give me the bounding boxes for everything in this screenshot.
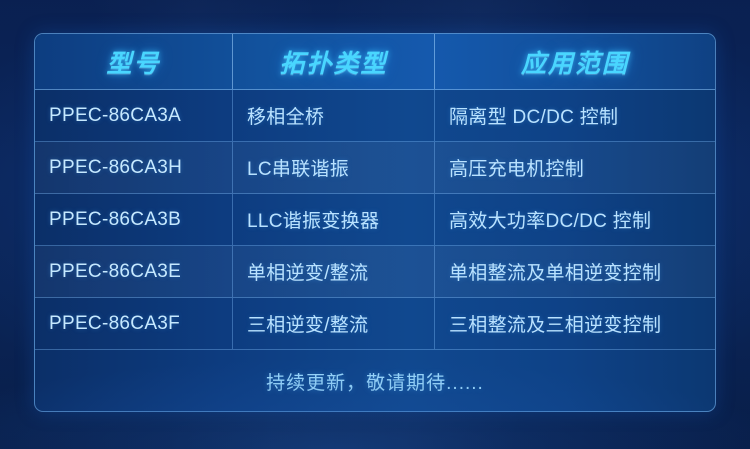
column-header-topology: 拓扑类型 <box>233 34 435 89</box>
cell-topology-value: LC串联谐振 <box>247 154 349 181</box>
cell-model: PPEC-86CA3B <box>35 194 233 245</box>
table-footer-row: 持续更新，敬请期待...... <box>35 350 715 412</box>
table-row: PPEC-86CA3B LLC谐振变换器 高效大功率DC/DC 控制 <box>35 194 715 246</box>
cell-scope: 三相整流及三相逆变控制 <box>435 298 715 349</box>
cell-scope: 隔离型 DC/DC 控制 <box>435 90 715 141</box>
cell-topology: 单相逆变/整流 <box>233 246 435 297</box>
cell-scope-value: 隔离型 DC/DC 控制 <box>449 102 618 129</box>
column-header-scope-label: 应用范围 <box>449 44 701 80</box>
cell-scope-value: 三相整流及三相逆变控制 <box>449 310 661 337</box>
cell-model: PPEC-86CA3H <box>35 142 233 193</box>
cell-topology: LLC谐振变换器 <box>233 194 435 245</box>
cell-model-value: PPEC-86CA3F <box>49 313 180 335</box>
slide-canvas: 型号 拓扑类型 应用范围 PPEC-86CA3A 移相全桥 隔离型 DC/DC … <box>0 0 750 449</box>
table-row: PPEC-86CA3F 三相逆变/整流 三相整流及三相逆变控制 <box>35 298 715 350</box>
cell-model-value: PPEC-86CA3E <box>49 261 181 283</box>
cell-scope-value: 高压充电机控制 <box>449 154 584 181</box>
cell-scope-value: 高效大功率DC/DC 控制 <box>449 206 651 233</box>
column-header-model: 型号 <box>35 34 233 89</box>
table-row: PPEC-86CA3H LC串联谐振 高压充电机控制 <box>35 142 715 194</box>
cell-scope: 高效大功率DC/DC 控制 <box>435 194 715 245</box>
cell-topology-value: 三相逆变/整流 <box>247 310 368 337</box>
cell-topology: LC串联谐振 <box>233 142 435 193</box>
cell-topology-value: 移相全桥 <box>247 102 324 129</box>
table-row: PPEC-86CA3A 移相全桥 隔离型 DC/DC 控制 <box>35 90 715 142</box>
cell-model: PPEC-86CA3F <box>35 298 233 349</box>
column-header-topology-label: 拓扑类型 <box>247 44 420 80</box>
cell-model-value: PPEC-86CA3A <box>49 105 181 127</box>
column-header-scope: 应用范围 <box>435 34 715 89</box>
cell-scope-value: 单相整流及单相逆变控制 <box>449 258 661 285</box>
cell-model-value: PPEC-86CA3B <box>49 209 181 231</box>
cell-topology-value: 单相逆变/整流 <box>247 258 368 285</box>
cell-scope: 单相整流及单相逆变控制 <box>435 246 715 297</box>
table-row: PPEC-86CA3E 单相逆变/整流 单相整流及单相逆变控制 <box>35 246 715 298</box>
table-header-row: 型号 拓扑类型 应用范围 <box>35 34 715 90</box>
product-table: 型号 拓扑类型 应用范围 PPEC-86CA3A 移相全桥 隔离型 DC/DC … <box>34 33 716 412</box>
cell-model: PPEC-86CA3A <box>35 90 233 141</box>
footer-note: 持续更新，敬请期待...... <box>266 368 484 395</box>
cell-topology: 移相全桥 <box>233 90 435 141</box>
cell-topology: 三相逆变/整流 <box>233 298 435 349</box>
cell-model-value: PPEC-86CA3H <box>49 157 182 179</box>
cell-model: PPEC-86CA3E <box>35 246 233 297</box>
column-header-model-label: 型号 <box>49 44 218 80</box>
cell-topology-value: LLC谐振变换器 <box>247 206 379 233</box>
cell-scope: 高压充电机控制 <box>435 142 715 193</box>
